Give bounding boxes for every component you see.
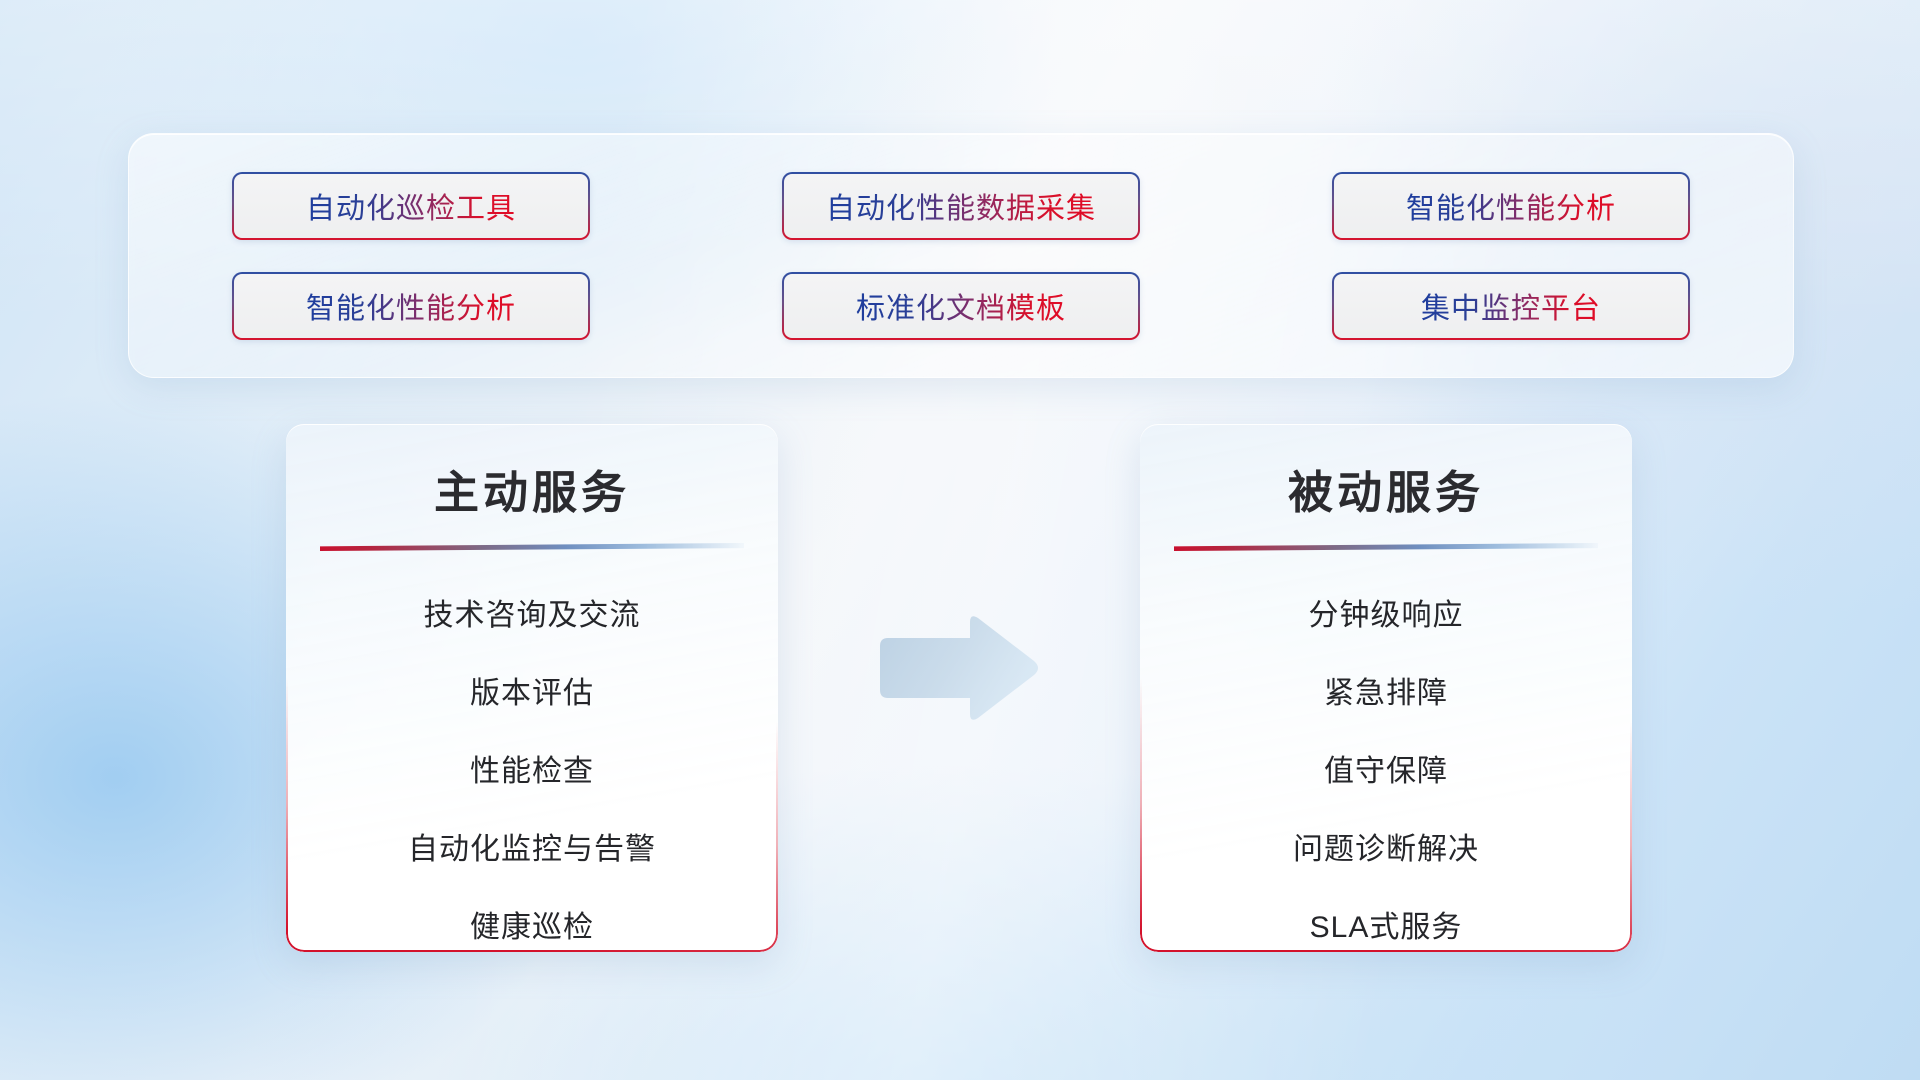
list-item: 版本评估	[286, 665, 778, 723]
service-card-proactive[interactable]: 主动服务 技术咨询及交流 版本评估 性能检查 自动化监控与告警 健康巡检	[286, 424, 778, 952]
capability-pills-panel: 自动化巡检工具 自动化性能数据采集 智能化性能分析 智能化性能分析 标准化文档模…	[128, 133, 1794, 378]
card-item-list: 分钟级响应 紧急排障 值守保障 问题诊断解决 SLA式服务	[1140, 587, 1632, 952]
pill-label: 智能化性能分析	[1406, 185, 1616, 227]
arrow-right-icon	[874, 612, 1042, 724]
pill-label: 集中监控平台	[1421, 285, 1601, 327]
list-item: 技术咨询及交流	[286, 587, 778, 645]
pill-button-intelligent-performance-analysis-top[interactable]: 智能化性能分析	[1332, 172, 1690, 240]
list-item: 健康巡检	[286, 899, 778, 952]
card-divider	[320, 543, 744, 553]
service-card-reactive[interactable]: 被动服务 分钟级响应 紧急排障 值守保障 问题诊断解决 SLA式服务	[1140, 424, 1632, 952]
card-divider	[1174, 543, 1598, 553]
list-item: SLA式服务	[1140, 899, 1632, 952]
list-item: 值守保障	[1140, 743, 1632, 801]
pill-button-automated-performance-data-collection[interactable]: 自动化性能数据采集	[782, 172, 1140, 240]
list-item: 自动化监控与告警	[286, 821, 778, 879]
pill-label: 自动化性能数据采集	[826, 185, 1096, 227]
pill-inner: 自动化性能数据采集	[784, 174, 1138, 238]
pill-button-centralized-monitoring-platform[interactable]: 集中监控平台	[1332, 272, 1690, 340]
pill-label: 自动化巡检工具	[306, 185, 516, 227]
pill-grid: 自动化巡检工具 自动化性能数据采集 智能化性能分析 智能化性能分析 标准化文档模…	[232, 172, 1690, 340]
list-item: 性能检查	[286, 743, 778, 801]
list-item: 分钟级响应	[1140, 587, 1632, 645]
card-title: 被动服务	[1140, 456, 1632, 521]
pill-inner: 自动化巡检工具	[234, 174, 588, 238]
pill-button-standardized-document-template[interactable]: 标准化文档模板	[782, 272, 1140, 340]
list-item: 问题诊断解决	[1140, 821, 1632, 879]
pill-inner: 标准化文档模板	[784, 274, 1138, 338]
pill-inner: 智能化性能分析	[234, 274, 588, 338]
pill-button-intelligent-performance-analysis-bottom[interactable]: 智能化性能分析	[232, 272, 590, 340]
card-title: 主动服务	[286, 456, 778, 521]
list-item: 紧急排障	[1140, 665, 1632, 723]
card-item-list: 技术咨询及交流 版本评估 性能检查 自动化监控与告警 健康巡检	[286, 587, 778, 952]
pill-inner: 集中监控平台	[1334, 274, 1688, 338]
pill-label: 标准化文档模板	[856, 285, 1066, 327]
pill-button-automated-inspection-tool[interactable]: 自动化巡检工具	[232, 172, 590, 240]
pill-label: 智能化性能分析	[306, 285, 516, 327]
pill-inner: 智能化性能分析	[1334, 174, 1688, 238]
